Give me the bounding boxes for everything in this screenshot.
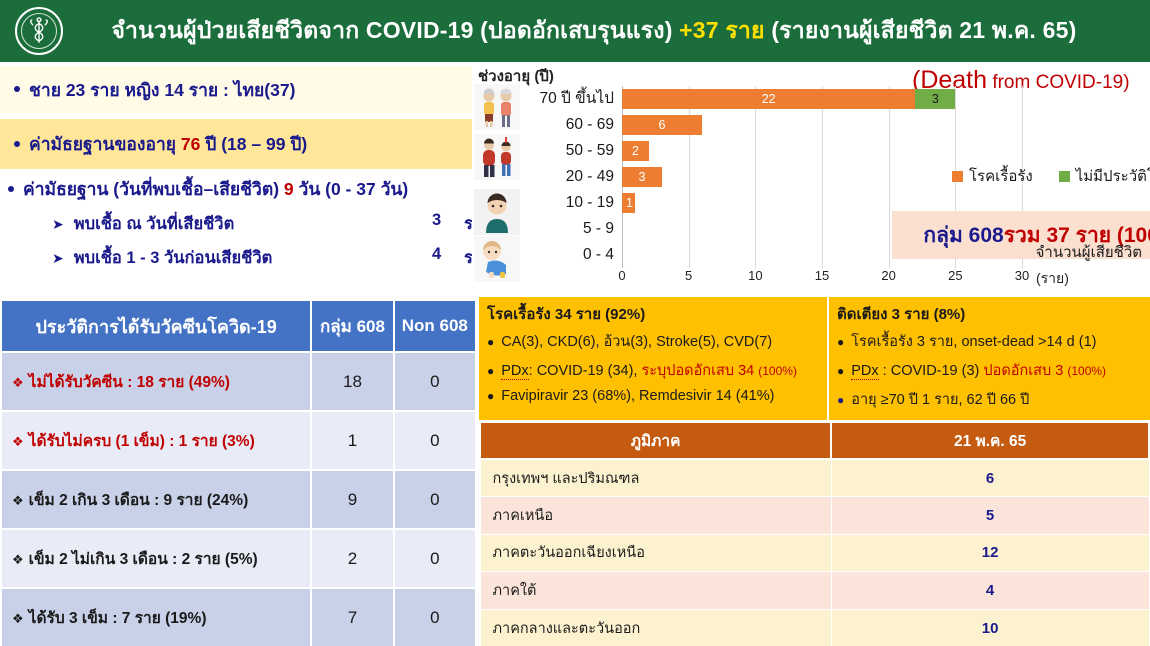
legend-swatch-icon [952,171,963,182]
chronic-disease-info-box: โรคเรื้อรัง 34 ราย (92%) ● CA(3), CKD(6)… [479,297,827,420]
non608-value: 0 [394,470,476,529]
diamond-bullet-icon: ❖ [12,375,24,390]
title-highlight: +37 ราย [679,17,765,43]
chart-x-axis-label: จำนวนผู้เสียชีวิต [1036,240,1142,264]
summary-line-median-age: ค่ามัธยฐานของอายุ 76 ปี (18 – 99 ปี) [0,130,307,158]
region-value: 10 [831,609,1149,646]
elderly-couple-icon [474,84,520,130]
chart-bar-row: 1 [622,190,635,216]
category-label: 60 - 69 [520,112,620,138]
median-days-prefix: ค่ามัธยฐาน (วันที่พบเชื้อ–เสียชีวิต) [23,179,284,199]
legend-item-none: ไม่มีประวัติโรคเรื้องรัง [1059,164,1150,188]
arrow-right-icon: ➤ [52,216,64,232]
pneumonia-highlight: ระบุปอดอักเสบ 34 [641,363,758,379]
table-row: ภาคเหนือ 5 [480,497,1149,535]
median-days-value: 9 [284,179,294,199]
chart-bar-segment-no-chronic: 3 [915,89,955,109]
group608-value: 18 [311,352,393,411]
bedridden-info-box: ติดเตียง 3 ราย (8%) ● โรคเรื้อรัง 3 ราย,… [829,297,1150,420]
vaccination-history-table: ประวัติการได้รับวัคซีนโควิด-19 กลุ่ม 608… [0,299,477,646]
legend-swatch-icon [1059,171,1070,182]
row-label: เข็ม 2 ไม่เกิน 3 เดือน : 2 ราย (5%) [29,551,258,568]
child-icon [474,189,520,235]
chart-bar-value: 6 [622,115,702,135]
legend-label: ไม่มีประวัติโรคเรื้องรัง [1076,164,1150,188]
vaccine-label-cell: ❖ได้รับ 3 เข็ม : 7 ราย (19%) [1,588,311,646]
bullet-dot-icon [14,141,20,147]
chronic-box-title: โรคเรื้อรัง 34 ราย (92%) [487,302,819,326]
summary-line-gender: ชาย 23 ราย หญิง 14 ราย : ไทย(37) [0,76,295,104]
chart-x-axis-ticks: 051015202530(ราย) [622,268,1052,290]
column-header-group608: กลุ่ม 608 [311,300,393,352]
sub-item-0: ➤พบเชื้อ ณ วันที่เสียชีวิต 3 ราย [0,211,480,237]
column-header-date: 21 พ.ค. 65 [831,422,1149,459]
median-age-value: 76 [181,134,200,154]
table-header-row: ประวัติการได้รับวัคซีนโควิด-19 กลุ่ม 608… [1,300,476,352]
bedridden-item-2: ● อายุ ≥70 ปี 1 ราย, 62 ปี 66 ปี [837,388,1142,411]
logo-container [0,0,78,62]
chart-bar-segment-chronic: 22 [622,89,915,109]
bullet-icon: ● [487,335,494,349]
title-suffix: (รายงานผู้เสียชีวิต 21 พ.ค. 65) [765,17,1077,43]
bedridden-item-1: ● PDx : COVID-19 (3) ปอดอักเสบ 3 (100%) [837,359,1142,382]
bullet-icon: ● [837,364,844,378]
group608-value: 1 [311,411,393,470]
bullet-icon: ● [837,335,844,349]
row-label: ได้รับไม่ครบ (1 เข็ม) : 1 ราย (3%) [29,433,255,450]
adults-icon [474,134,520,180]
table-row: กรุงเทพฯ และปริมณฑล 6 [480,459,1149,497]
region-name: ภาคเหนือ [480,497,831,535]
row-label: ได้รับ 3 เข็ม : 7 ราย (19%) [29,610,207,627]
chart-gridline [822,86,823,268]
chart-x-tick-label: 15 [815,268,829,283]
summary-box-median-days: ค่ามัธยฐาน (วันที่พบเชื้อ–เสียชีวิต) 9 ว… [0,175,480,285]
category-label: 0 - 4 [520,242,620,268]
median-age-suffix: ปี (18 – 99 ปี) [200,134,307,154]
banner-text-blue: กลุ่ม 608 [923,219,1003,252]
chart-legend: โรคเรื้อรัง ไม่มีประวัติโรคเรื้องรัง [952,164,1150,188]
bedridden-item-text: โรคเรื้อรัง 3 ราย, onset-dead >14 d (1) [851,330,1096,353]
chronic-item-1: ● PDx: COVID-19 (34), ระบุปอดอักเสบ 34 (… [487,359,819,382]
column-header-region: ภูมิภาค [480,422,831,459]
table-header-row: ภูมิภาค 21 พ.ค. 65 [480,422,1149,459]
chronic-item-text: Favipiravir 23 (68%), Remdesivir 14 (41%… [501,388,774,404]
group608-value: 9 [311,470,393,529]
chart-x-tick-label: 5 [685,268,692,283]
table-row: ❖ไม่ได้รับวัคซีน : 18 ราย (49%) 18 0 [1,352,476,411]
sub-item-count: 4 [432,245,441,264]
bedridden-box-title: ติดเตียง 3 ราย (8%) [837,302,1142,326]
median-days-suffix: วัน (0 - 37 วัน) [294,179,409,199]
region-value: 6 [831,459,1149,497]
chart-bar-value: 2 [622,141,649,161]
chart-bar-value: 3 [915,89,955,109]
diamond-bullet-icon: ❖ [12,493,24,508]
region-name: ภาคกลางและตะวันออก [480,609,831,646]
bedridden-item-0: ● โรคเรื้อรัง 3 ราย, onset-dead >14 d (1… [837,330,1142,353]
chart-x-tick-label: 20 [881,268,895,283]
bedridden-item-text: อายุ ≥70 ปี 1 ราย, 62 ปี 66 ปี [851,388,1029,411]
region-value: 4 [831,572,1149,610]
chart-x-tick-label: 25 [948,268,962,283]
chart-x-tick-label: 10 [748,268,762,283]
row-label: เข็ม 2 เกิน 3 เดือน : 9 ราย (24%) [29,492,249,509]
region-value: 5 [831,497,1149,535]
vaccine-label-cell: ❖ไม่ได้รับวัคซีน : 18 ราย (49%) [1,352,311,411]
chart-x-tick-label: 0 [618,268,625,283]
chart-bar-row: 6 [622,112,702,138]
sub-item-label: พบเชื้อ 1 - 3 วันก่อนเสียชีวิต [74,245,273,271]
group608-value: 2 [311,529,393,588]
age-group-bar-chart: ช่วงอายุ (ปี) (Death from COVID-19) [472,62,1150,295]
pneumonia-percent: (100%) [1067,364,1106,378]
chart-x-unit-label: (ราย) [1036,268,1069,290]
pdx-text: : COVID-19 (34), [529,363,642,379]
pdx-label: PDx [501,363,528,380]
vaccine-label-cell: ❖เข็ม 2 เกิน 3 เดือน : 9 ราย (24%) [1,470,311,529]
pdx-text: : COVID-19 (3) [879,363,984,379]
region-value: 12 [831,534,1149,572]
vaccine-label-cell: ❖เข็ม 2 ไม่เกิน 3 เดือน : 2 ราย (5%) [1,529,311,588]
category-label: 70 ปี ขึ้นไป [520,86,620,112]
arrow-right-icon: ➤ [52,250,64,266]
group608-value: 7 [311,588,393,646]
chart-x-tick-label: 30 [1015,268,1029,283]
page-title: จำนวนผู้ป่วยเสียชีวิตจาก COVID-19 (ปอดอั… [78,13,1150,49]
chart-gridline [889,86,890,268]
category-label: 10 - 19 [520,190,620,216]
ministry-of-public-health-emblem-icon [15,7,63,55]
chart-bar-value: 22 [622,89,915,109]
category-label: 5 - 9 [520,216,620,242]
column-header-non608: Non 608 [394,300,476,352]
bullet-dot-icon [14,86,20,92]
legend-item-chronic: โรคเรื้อรัง [952,164,1033,188]
category-label: 50 - 59 [520,138,620,164]
sub-item-1: ➤พบเชื้อ 1 - 3 วันก่อนเสียชีวิต 4 ราย [0,245,480,271]
page-header: จำนวนผู้ป่วยเสียชีวิตจาก COVID-19 (ปอดอั… [0,0,1150,62]
chart-bar-value: 1 [622,193,635,213]
median-age-prefix: ค่ามัธยฐานของอายุ [29,134,181,154]
non608-value: 0 [394,529,476,588]
region-name: ภาคตะวันออกเฉียงเหนือ [480,534,831,572]
column-header-history: ประวัติการได้รับวัคซีนโควิด-19 [1,300,311,352]
table-row: ❖ได้รับ 3 เข็ม : 7 ราย (19%) 7 0 [1,588,476,646]
baby-icon [474,236,520,282]
age-group-illustrations [474,84,520,284]
diamond-bullet-icon: ❖ [12,552,24,567]
region-name: ภาคใต้ [480,572,831,610]
chart-bar-row: 223 [622,86,955,112]
table-row: ภาคกลางและตะวันออก 10 [480,609,1149,646]
table-row: ❖เข็ม 2 เกิน 3 เดือน : 9 ราย (24%) 9 0 [1,470,476,529]
region-name: กรุงเทพฯ และปริมณฑล [480,459,831,497]
diamond-bullet-icon: ❖ [12,611,24,626]
non608-value: 0 [394,411,476,470]
chronic-item-0: ● CA(3), CKD(6), อ้วน(3), Stroke(5), CVD… [487,330,819,353]
bullet-icon: ● [487,364,494,378]
legend-label: โรคเรื้อรัง [969,164,1033,188]
chart-bar-value: 3 [622,167,662,187]
chronic-item-2: ● Favipiravir 23 (68%), Remdesivir 14 (4… [487,388,819,404]
chart-category-labels: 70 ปี ขึ้นไป 60 - 69 50 - 59 20 - 49 10 … [520,86,620,276]
category-label: 20 - 49 [520,164,620,190]
chart-gridline [755,86,756,268]
table-row: ภาคตะวันออกเฉียงเหนือ 12 [480,534,1149,572]
title-prefix: จำนวนผู้ป่วยเสียชีวิตจาก COVID-19 (ปอดอั… [112,17,680,43]
row-label: ไม่ได้รับวัคซีน : 18 ราย (49%) [29,374,230,391]
sub-item-label: พบเชื้อ ณ วันที่เสียชีวิต [74,211,235,237]
pneumonia-highlight: ปอดอักเสบ 3 [983,363,1067,379]
pneumonia-percent: (100%) [758,364,797,378]
pdx-label: PDx [851,363,878,380]
chart-bar-row: 3 [622,164,662,190]
bullet-dot-icon [8,186,14,192]
non608-value: 0 [394,352,476,411]
summary-box-gender: ชาย 23 ราย หญิง 14 ราย : ไทย(37) [0,66,472,113]
table-row: ❖เข็ม 2 ไม่เกิน 3 เดือน : 2 ราย (5%) 2 0 [1,529,476,588]
chart-bar-segment-chronic: 3 [622,167,662,187]
chart-plot-region: 2236231 โรคเรื้อรัง ไม่มีประวัติโรคเรื้อ… [622,86,1022,268]
summary-box-median-age: ค่ามัธยฐานของอายุ 76 ปี (18 – 99 ปี) [0,119,472,169]
region-death-table: ภูมิภาค 21 พ.ค. 65 กรุงเทพฯ และปริมณฑล 6… [479,421,1150,646]
chart-bar-row: 2 [622,138,649,164]
sub-item-count: 3 [432,211,441,230]
chart-bar-segment-chronic: 1 [622,193,635,213]
chart-bar-segment-chronic: 2 [622,141,649,161]
bullet-icon: ● [837,393,844,407]
diamond-bullet-icon: ❖ [12,434,24,449]
non608-value: 0 [394,588,476,646]
table-row: ❖ได้รับไม่ครบ (1 เข็ม) : 1 ราย (3%) 1 0 [1,411,476,470]
summary-line-median-days: ค่ามัธยฐาน (วันที่พบเชื้อ–เสียชีวิต) 9 ว… [0,175,480,203]
bullet-icon: ● [487,389,494,403]
table-row: ภาคใต้ 4 [480,572,1149,610]
summary-gender-text: ชาย 23 ราย หญิง 14 ราย : ไทย(37) [29,80,295,100]
chart-bar-segment-chronic: 6 [622,115,702,135]
vaccine-label-cell: ❖ได้รับไม่ครบ (1 เข็ม) : 1 ราย (3%) [1,411,311,470]
chronic-item-text: CA(3), CKD(6), อ้วน(3), Stroke(5), CVD(7… [501,330,772,353]
